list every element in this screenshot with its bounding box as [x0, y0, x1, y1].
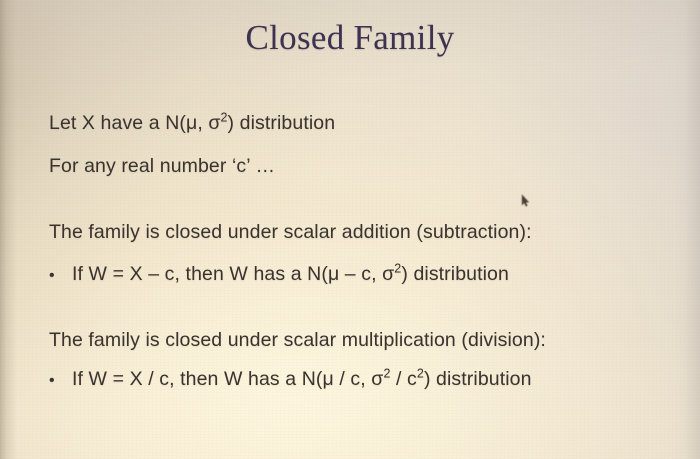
bullet-marker-icon: •	[49, 263, 72, 289]
bullet-marker-icon: •	[49, 368, 72, 394]
slide-title: Closed Family	[0, 17, 700, 59]
bullet-item-multiplication: • If W = X / c, then W has a N(μ / c, σ2…	[49, 366, 659, 394]
bullet-text-multiplication: If W = X / c, then W has a N(μ / c, σ2 /…	[72, 366, 532, 392]
bullet-text-addition: If W = X – c, then W has a N(μ – c, σ2) …	[72, 261, 509, 287]
section-heading-addition: The family is closed under scalar additi…	[49, 219, 659, 245]
bullet-item-addition: • If W = X – c, then W has a N(μ – c, σ2…	[49, 261, 659, 289]
slide-content: Closed Family Let X have a N(μ, σ2) dist…	[0, 0, 700, 459]
presentation-slide: Closed Family Let X have a N(μ, σ2) dist…	[0, 0, 700, 459]
section-heading-multiplication: The family is closed under scalar multip…	[49, 327, 659, 353]
intro-line-distribution: Let X have a N(μ, σ2) distribution	[49, 110, 659, 136]
intro-line-real-number: For any real number ‘c’ …	[49, 153, 659, 179]
